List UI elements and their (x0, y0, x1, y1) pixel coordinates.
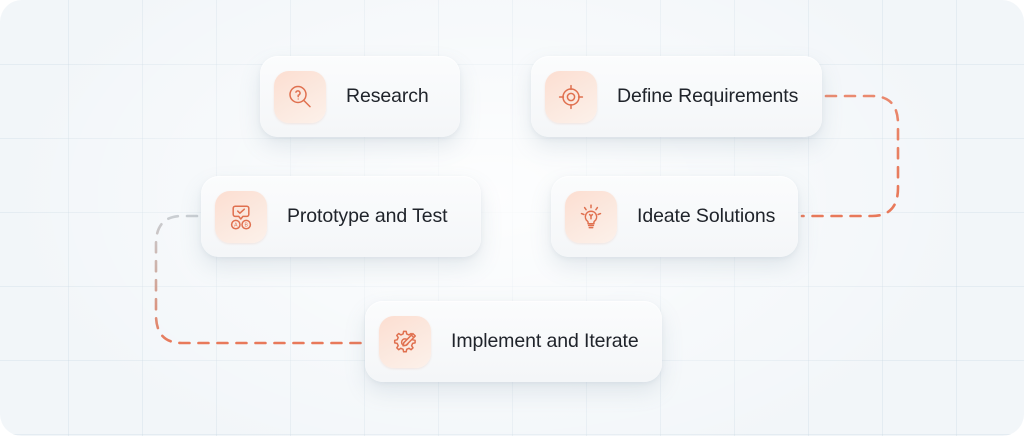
flow-diagram-canvas: Research Define Requirements A B (0, 0, 1024, 436)
flow-step-label: Define Requirements (617, 85, 798, 108)
gear-pencil-icon (379, 316, 431, 368)
flow-step-label: Ideate Solutions (637, 205, 775, 228)
magnifier-question-icon (274, 71, 326, 123)
lightbulb-idea-icon (565, 191, 617, 243)
flow-step-label: Prototype and Test (287, 205, 447, 228)
ab-test-check-icon: A B (215, 191, 267, 243)
crosshair-target-icon (545, 71, 597, 123)
flow-step-implement-and-iterate[interactable]: Implement and Iterate (365, 301, 662, 382)
svg-text:B: B (244, 222, 248, 228)
svg-text:A: A (234, 222, 238, 228)
flow-step-define-requirements[interactable]: Define Requirements (531, 56, 822, 137)
flow-step-label: Implement and Iterate (451, 330, 639, 353)
flow-step-label: Research (346, 85, 429, 108)
flow-step-ideate-solutions[interactable]: Ideate Solutions (551, 176, 798, 257)
flow-step-prototype-and-test[interactable]: A B Prototype and Test (201, 176, 481, 257)
flow-step-research[interactable]: Research (260, 56, 460, 137)
